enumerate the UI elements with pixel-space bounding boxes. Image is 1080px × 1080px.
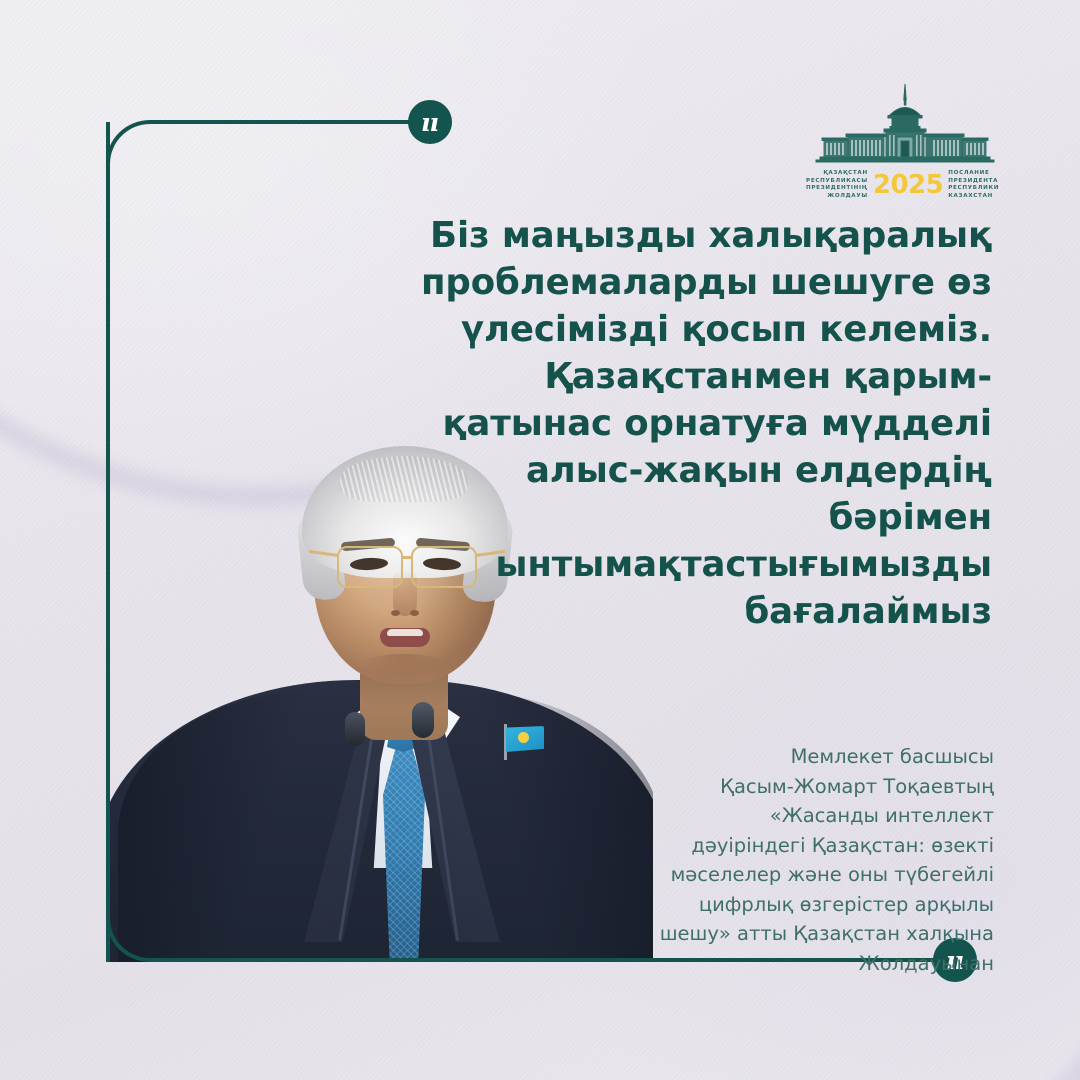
ak-orda-palace-icon <box>806 82 1004 168</box>
quote-attribution: Мемлекет басшысы Қасым-Жомарт Тоқаевтың … <box>606 742 994 978</box>
logo-kk-line-1: ҚАЗАҚСТАН <box>806 170 868 178</box>
logo-kk-line-4: ЖОЛДАУЫ <box>806 193 868 201</box>
logo-caption: ҚАЗАҚСТАН РЕСПУБЛИКАСЫ ПРЕЗИДЕНТІНІҢ ЖОЛ… <box>806 170 1004 200</box>
logo-kk-line-3: ПРЕЗИДЕНТІНІҢ <box>806 185 868 193</box>
chin-shadow <box>358 654 450 680</box>
microphone-head-left <box>345 712 365 746</box>
quote-line: қатынас орнатуға мүдделі <box>408 400 992 447</box>
quote-line: алыс-жақын елдердің <box>408 447 992 494</box>
flag-pin-sun <box>518 732 529 743</box>
eyeglasses-lens-left <box>337 546 403 588</box>
quote-line: Біз маңызды халықаралық <box>408 212 992 259</box>
attribution-line: мәселелер және оны түбегейлі <box>606 860 994 890</box>
logo-ru-line-1: ПОСЛАНИЕ <box>948 170 1004 178</box>
microphone-head-right <box>412 702 434 738</box>
suit-shadow-left <box>118 692 308 962</box>
attribution-line: Жолдауынан <box>606 949 994 979</box>
attribution-line: Мемлекет басшысы <box>606 742 994 772</box>
quote-line: проблемаларды шешуге өз <box>408 259 992 306</box>
necktie-pattern <box>383 748 425 962</box>
attribution-line: дәуіріндегі Қазақстан: өзекті <box>606 831 994 861</box>
logo-caption-russian: ПОСЛАНИЕ ПРЕЗИДЕНТА РЕСПУБЛИКИ КАЗАХСТАН <box>948 170 1004 200</box>
quote-line: Қазақстанмен қарым- <box>408 353 992 400</box>
attribution-line: шешу» атты Қазақстан халқына <box>606 919 994 949</box>
quote-line: бәрімен <box>408 494 992 541</box>
quote-line: ынтымақтастығымызды <box>408 541 992 588</box>
logo-ru-line-3: РЕСПУБЛИКИ <box>948 185 1004 193</box>
nostril-left <box>391 610 400 616</box>
quote-line: бағалаймыз <box>408 588 992 635</box>
logo-kk-line-2: РЕСПУБЛИКАСЫ <box>806 178 868 186</box>
attribution-line: цифрлық өзгерістер арқылы <box>606 890 994 920</box>
quote-line: үлесімізді қосып келеміз. <box>408 306 992 353</box>
attribution-line: Қасым-Жомарт Тоқаевтың <box>606 772 994 802</box>
quote-body: Біз маңызды халықаралық проблемаларды ше… <box>408 212 992 635</box>
logo-caption-kazakh: ҚАЗАҚСТАН РЕСПУБЛИКАСЫ ПРЕЗИДЕНТІНІҢ ЖОЛ… <box>806 170 868 200</box>
logo-year: 2025 <box>873 172 943 198</box>
attribution-line: «Жасанды интеллект <box>606 801 994 831</box>
logo-ru-line-2: ПРЕЗИДЕНТА <box>948 178 1004 186</box>
logo-ru-line-4: КАЗАХСТАН <box>948 193 1004 201</box>
address-2025-logo: ҚАЗАҚСТАН РЕСПУБЛИКАСЫ ПРЕЗИДЕНТІНІҢ ЖОЛ… <box>806 82 1004 200</box>
